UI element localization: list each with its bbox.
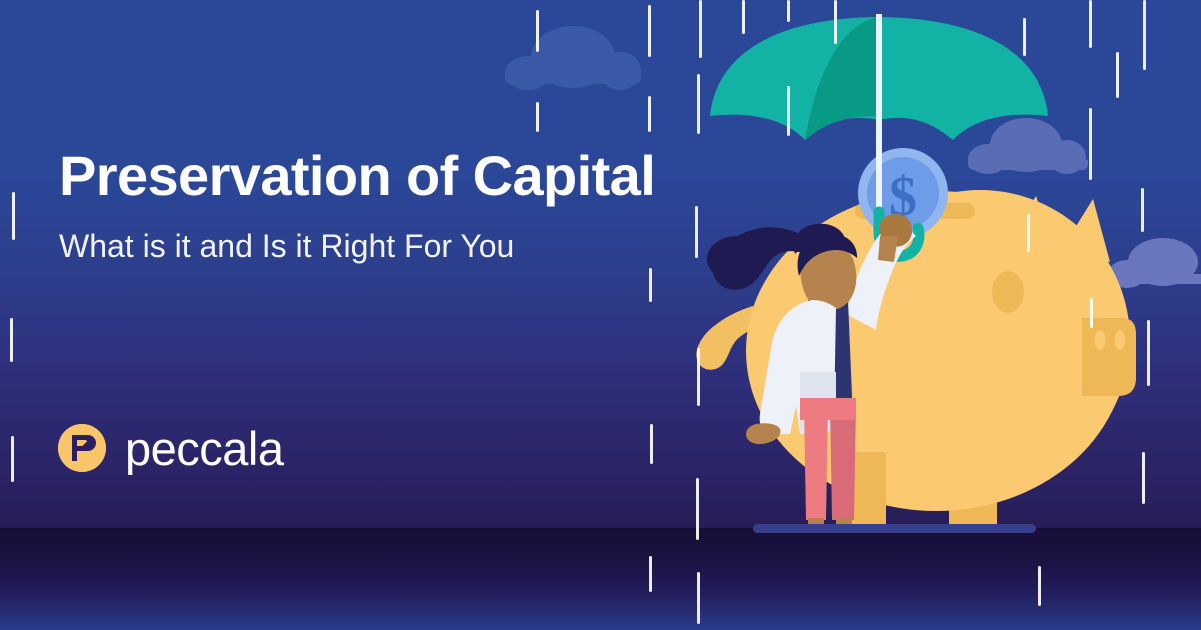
page-subtitle: What is it and Is it Right For You	[59, 228, 759, 265]
cloud-upper-right	[968, 118, 1086, 170]
rain-drop	[536, 102, 539, 132]
rain-drop	[1141, 188, 1144, 232]
rain-drop	[11, 436, 14, 482]
cloud-right-mid	[1108, 238, 1201, 284]
pants-waist	[800, 398, 856, 420]
hero-banner: $	[0, 0, 1201, 630]
hair-bun	[794, 224, 846, 254]
piggy-coin-slot	[855, 203, 975, 219]
piggy-eye	[992, 271, 1024, 313]
lowered-forearm	[765, 406, 786, 430]
rain-drop	[1143, 0, 1146, 70]
umbrella-canopy-left	[710, 17, 879, 140]
coin-dollar-symbol: $	[889, 166, 917, 228]
rain-drop	[12, 192, 15, 240]
neck	[813, 284, 835, 310]
rain-drop	[1023, 18, 1026, 56]
cloud-base	[1108, 274, 1201, 284]
cloud-base	[968, 160, 1088, 170]
coin-inner-disc	[867, 157, 939, 229]
piggy-leg-back	[949, 452, 997, 532]
rain-drop	[1142, 452, 1145, 504]
rain-drop	[1027, 214, 1030, 252]
peccala-logo-mark-icon	[58, 424, 106, 472]
raised-arm-sleeve	[846, 218, 916, 330]
shirt-torso	[800, 300, 852, 412]
rain-drop	[10, 318, 13, 362]
rain-drop	[1089, 108, 1092, 180]
lab-coat	[760, 300, 836, 434]
cloud-base	[505, 74, 641, 84]
rain-drop	[649, 268, 652, 302]
rain-drop	[697, 74, 700, 134]
pants-right-leg	[830, 404, 856, 520]
raised-forearm	[878, 236, 898, 262]
piggy-ear	[1005, 196, 1056, 254]
lowered-hand	[746, 423, 781, 444]
piggy-snout	[1082, 318, 1136, 396]
piggy-tail	[696, 300, 798, 370]
raised-hand	[880, 214, 913, 247]
piggy-head	[830, 190, 1130, 490]
piggy-nostril	[1115, 330, 1126, 350]
hair-cap	[798, 234, 858, 276]
brand-wordmark: peccala	[125, 425, 284, 472]
rain-drop	[697, 348, 700, 406]
piggy-body	[746, 191, 1126, 511]
rain-drop	[648, 96, 651, 132]
hero-copy: Preservation of Capital What is it and I…	[59, 146, 759, 265]
ground-line	[753, 524, 1036, 533]
rain-drop	[648, 5, 651, 57]
rain-drop	[1089, 0, 1092, 48]
rain-drop	[1090, 298, 1093, 328]
umbrella-handle	[879, 212, 919, 256]
rain-drop	[742, 0, 745, 34]
pants-left-leg	[804, 404, 828, 520]
lab-coat-shade	[800, 372, 836, 434]
piggy-ear	[1060, 199, 1110, 262]
piggy-leg-front	[838, 452, 886, 530]
cloud-lump	[599, 52, 641, 90]
rain-drop	[699, 0, 702, 58]
woman-character	[707, 214, 916, 560]
rain-drop	[787, 0, 790, 22]
umbrella-pole	[876, 14, 882, 236]
cloud-top-left	[505, 26, 637, 84]
page-title: Preservation of Capital	[59, 146, 759, 206]
cloud-lump	[505, 56, 551, 90]
rain-drop	[650, 424, 653, 464]
piggy-nostril	[1095, 330, 1106, 350]
head	[800, 243, 856, 310]
brand-logo[interactable]: peccala	[58, 424, 284, 472]
piggy-bank	[696, 190, 1136, 532]
coin-outer-ring	[858, 148, 948, 238]
dollar-coin: $	[858, 148, 948, 238]
ground-band	[0, 528, 1201, 630]
rain-drop	[787, 86, 790, 136]
rain-drop	[1116, 52, 1119, 98]
rain-drop	[834, 0, 837, 44]
umbrella-canopy-center	[805, 17, 953, 140]
rain-drop	[1147, 320, 1150, 386]
